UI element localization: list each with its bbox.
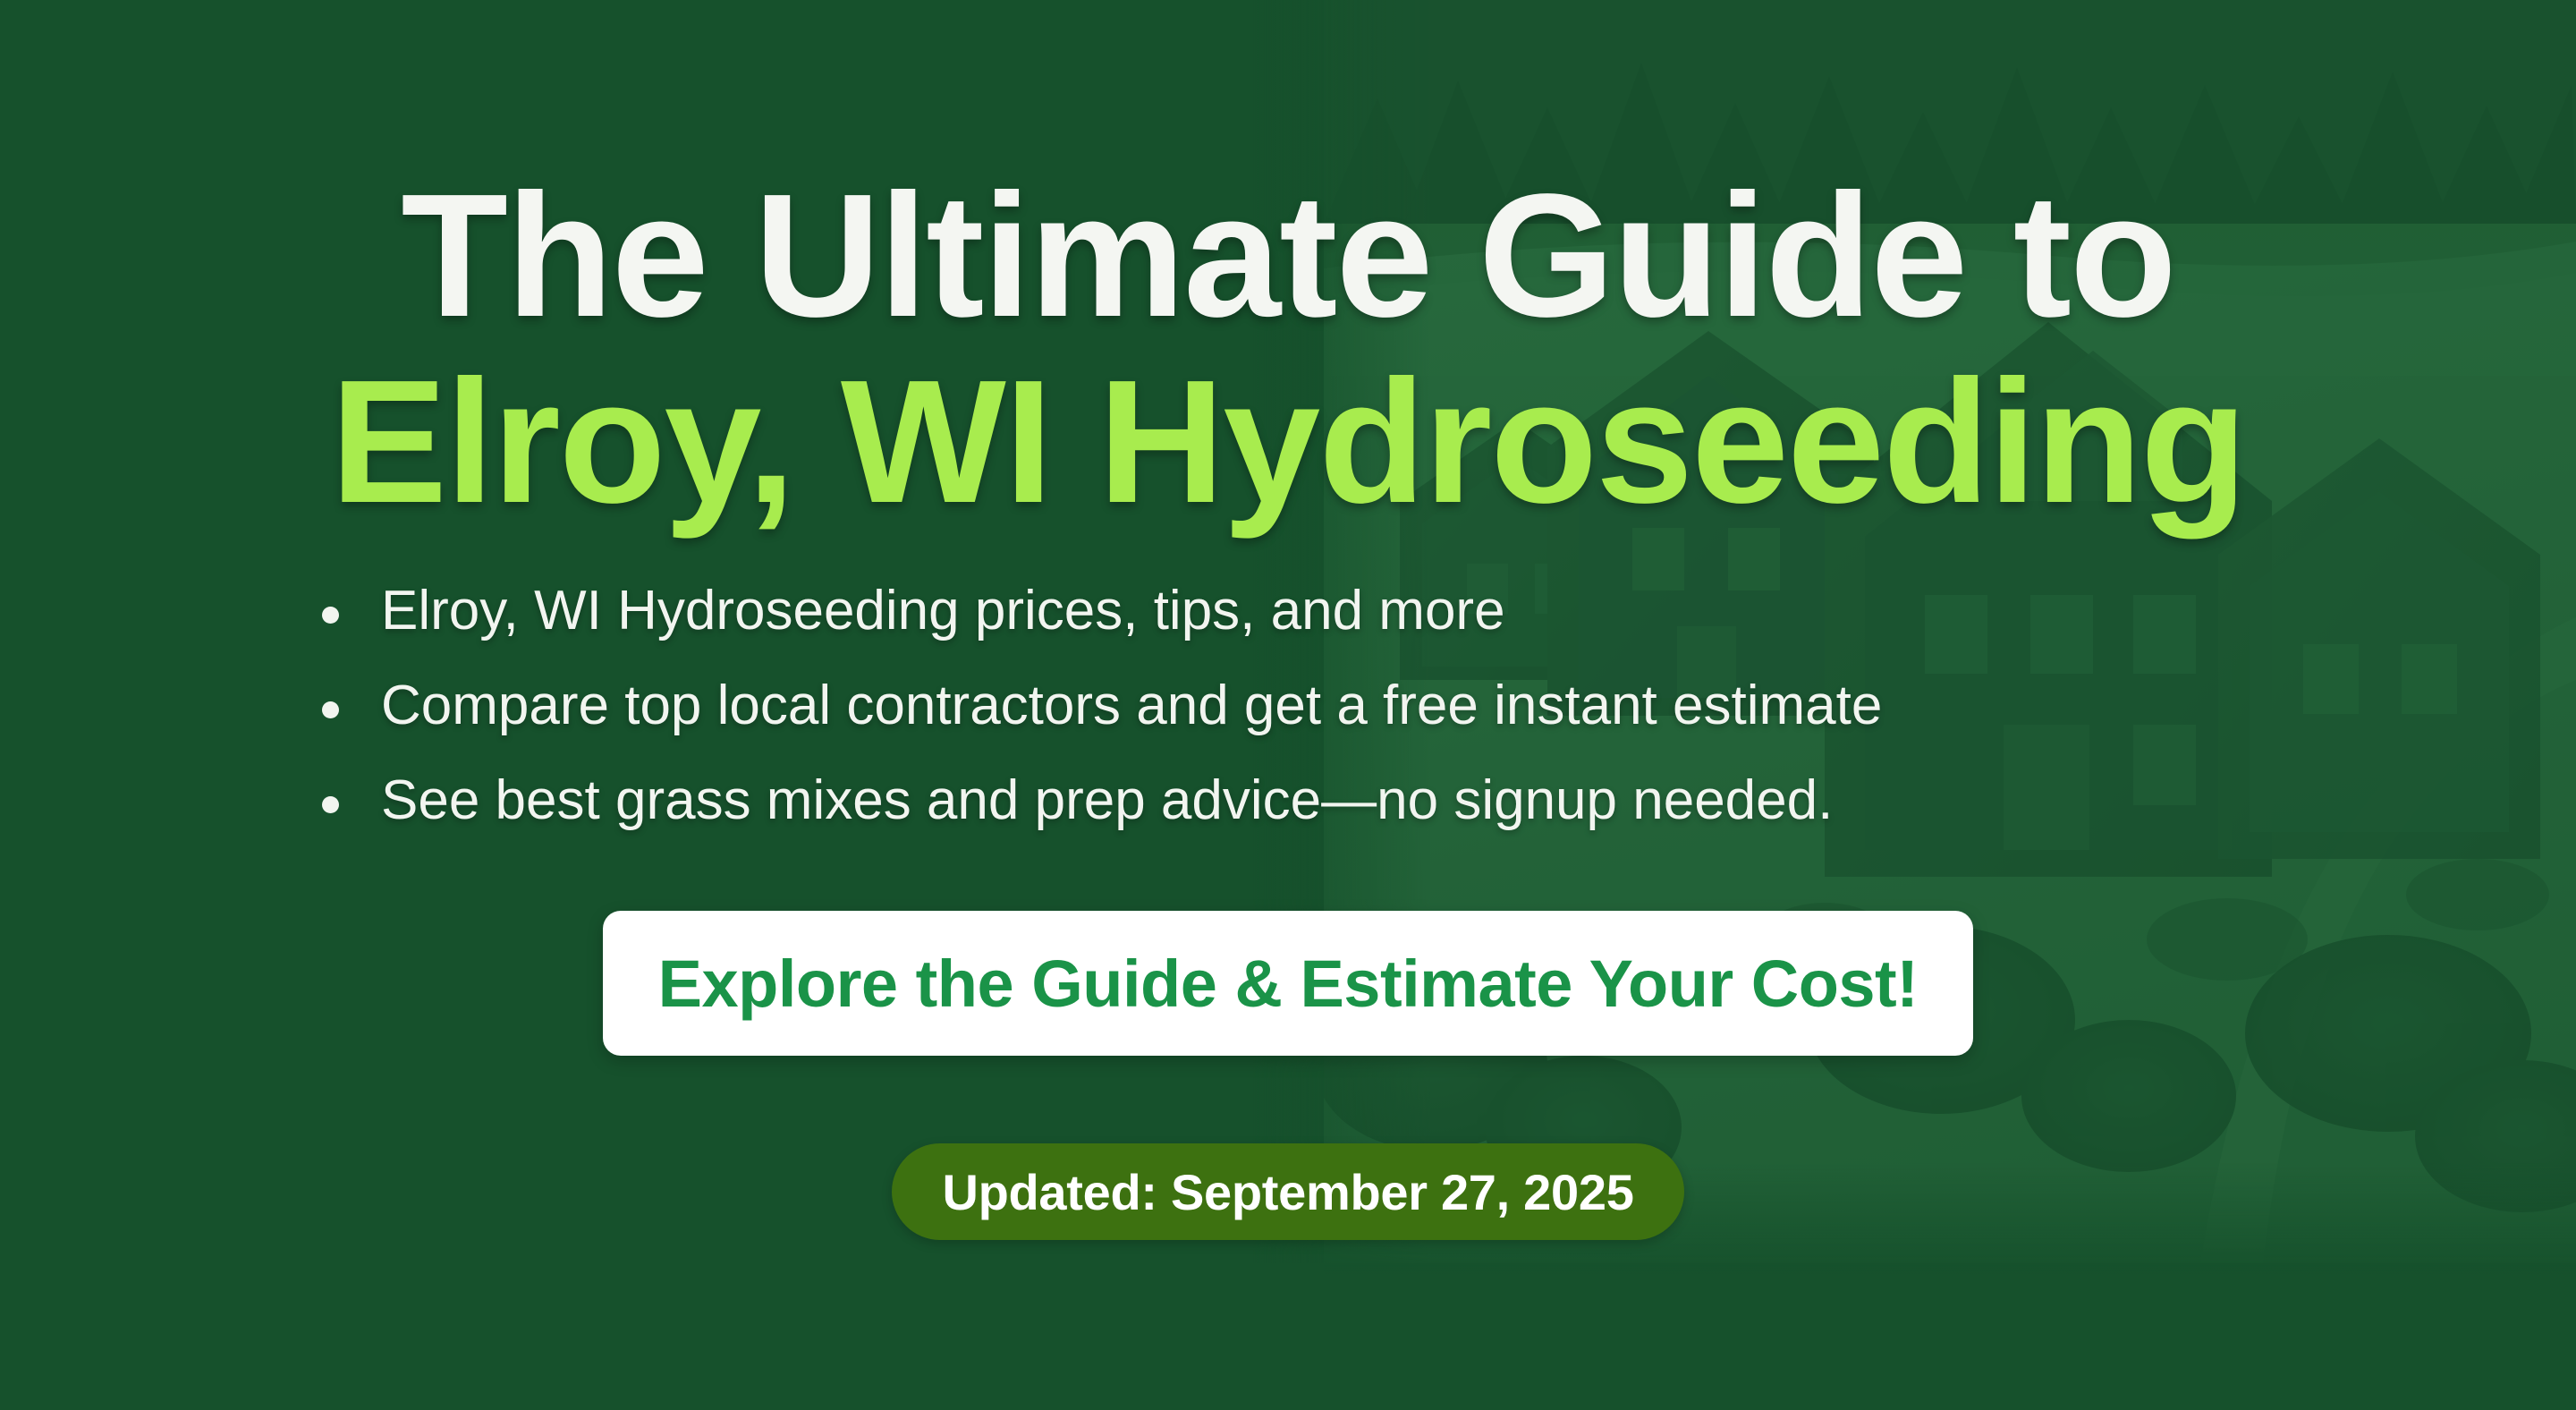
page-title: The Ultimate Guide to Elroy, WI Hydrosee… [0, 166, 2576, 531]
list-item: Elroy, WI Hydroseeding prices, tips, and… [315, 583, 2265, 639]
headline-line-one: The Ultimate Guide to [0, 166, 2576, 345]
explore-guide-button[interactable]: Explore the Guide & Estimate Your Cost! [603, 911, 1974, 1056]
list-item: See best grass mixes and prep advice—no … [315, 773, 2265, 828]
updated-badge: Updated: September 27, 2025 [892, 1143, 1683, 1240]
benefit-list: Elroy, WI Hydroseeding prices, tips, and… [315, 583, 2265, 868]
headline-line-two: Elroy, WI Hydroseeding [0, 352, 2576, 531]
hero-banner: The Ultimate Guide to Elroy, WI Hydrosee… [0, 0, 2576, 1410]
badge-row: Updated: September 27, 2025 [0, 1143, 2576, 1240]
cta-row: Explore the Guide & Estimate Your Cost! [0, 911, 2576, 1056]
list-item: Compare top local contractors and get a … [315, 678, 2265, 734]
